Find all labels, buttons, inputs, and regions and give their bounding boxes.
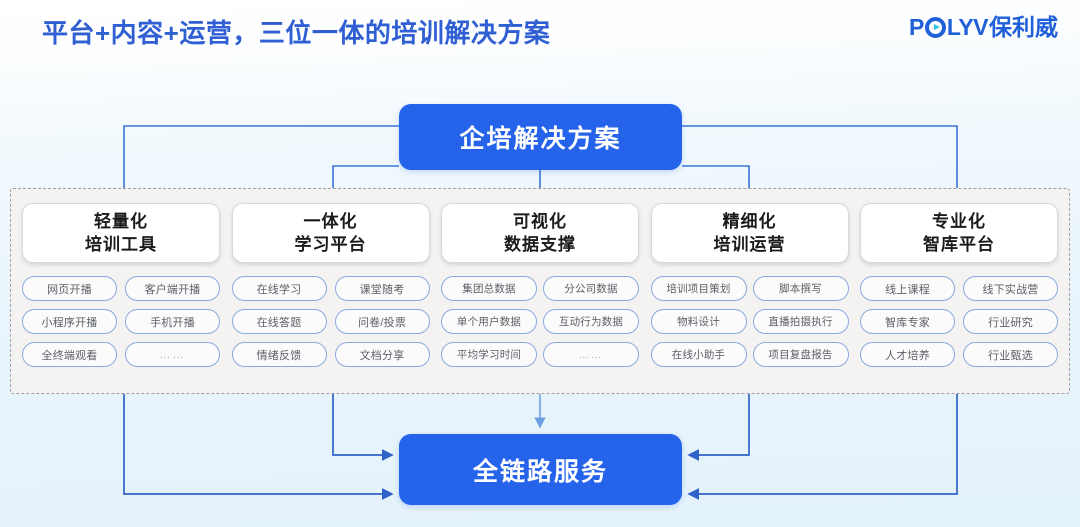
tag-item[interactable]: 问卷/投票: [335, 309, 430, 334]
pillar-title-line2: 培训运营: [714, 233, 786, 256]
pillar-tags-1: 网页开播 客户端开播 小程序开播 手机开播 全终端观看 ……: [22, 276, 220, 367]
pillar-header-1: 轻量化 培训工具: [22, 203, 220, 263]
pillar-title-line2: 学习平台: [295, 233, 367, 256]
pillar-header-2: 一体化 学习平台: [232, 203, 430, 263]
pillar-title-line2: 智库平台: [923, 233, 995, 256]
tag-item[interactable]: 项目复盘报告: [753, 342, 849, 367]
pillar-header-4: 精细化 培训运营: [651, 203, 849, 263]
tag-item[interactable]: 线上课程: [860, 276, 955, 301]
pillar-tags-5: 线上课程 线下实战营 智库专家 行业研究 人才培养 行业甄选: [860, 276, 1058, 367]
tag-item[interactable]: 直播拍摄执行: [753, 309, 849, 334]
tag-item[interactable]: 平均学习时间: [441, 342, 537, 367]
pillar-column-1[interactable]: 轻量化 培训工具 网页开播 客户端开播 小程序开播 手机开播 全终端观看 ……: [22, 203, 220, 381]
tag-item[interactable]: 集团总数据: [441, 276, 537, 301]
pillar-title-line1: 一体化: [304, 210, 358, 233]
pillar-title-line2: 培训工具: [85, 233, 157, 256]
tag-item[interactable]: 分公司数据: [543, 276, 639, 301]
pillar-column-3[interactable]: 可视化 数据支撑 集团总数据 分公司数据 单个用户数据 互动行为数据 平均学习时…: [441, 203, 639, 381]
pillar-header-3: 可视化 数据支撑: [441, 203, 639, 263]
tag-item[interactable]: 全终端观看: [22, 342, 117, 367]
tag-item[interactable]: 手机开播: [125, 309, 220, 334]
pillar-title-line2: 数据支撑: [504, 233, 576, 256]
pillar-tags-2: 在线学习 课堂随考 在线答题 问卷/投票 情绪反馈 文档分享: [232, 276, 430, 367]
tag-item[interactable]: 小程序开播: [22, 309, 117, 334]
top-solution-box[interactable]: 企培解决方案: [399, 104, 682, 170]
page-title: 平台+内容+运营，三位一体的培训解决方案: [42, 13, 550, 50]
tag-item[interactable]: 在线学习: [232, 276, 327, 301]
tag-item[interactable]: 物料设计: [651, 309, 747, 334]
pillar-title-line1: 轻量化: [94, 210, 148, 233]
tag-item[interactable]: 智库专家: [860, 309, 955, 334]
tag-item-more[interactable]: ……: [543, 342, 639, 367]
tag-item[interactable]: 脚本撰写: [753, 276, 849, 301]
brand-wordmark: P LYV: [909, 14, 988, 40]
tag-item[interactable]: 网页开播: [22, 276, 117, 301]
top-solution-label: 企培解决方案: [459, 119, 621, 155]
tag-item[interactable]: 单个用户数据: [441, 309, 537, 334]
tag-item[interactable]: 在线小助手: [651, 342, 747, 367]
pillar-tags-3: 集团总数据 分公司数据 单个用户数据 互动行为数据 平均学习时间 ……: [441, 276, 639, 367]
pillar-title-line1: 专业化: [932, 210, 986, 233]
brand-letter-p: P: [909, 14, 924, 40]
bottom-service-label: 全链路服务: [473, 452, 608, 488]
pillar-title-line1: 可视化: [513, 210, 567, 233]
tag-item[interactable]: 文档分享: [335, 342, 430, 367]
bottom-service-box[interactable]: 全链路服务: [399, 434, 682, 505]
brand-letters-lyv: LYV: [947, 14, 988, 40]
tag-item[interactable]: 课堂随考: [335, 276, 430, 301]
pillar-header-5: 专业化 智库平台: [860, 203, 1058, 263]
tag-item[interactable]: 在线答题: [232, 309, 327, 334]
tag-item[interactable]: 线下实战营: [963, 276, 1058, 301]
pillar-tags-4: 培训项目策划 脚本撰写 物料设计 直播拍摄执行 在线小助手 项目复盘报告: [651, 276, 849, 367]
tag-item[interactable]: 培训项目策划: [651, 276, 747, 301]
tag-item[interactable]: 互动行为数据: [543, 309, 639, 334]
pillar-column-4[interactable]: 精细化 培训运营 培训项目策划 脚本撰写 物料设计 直播拍摄执行 在线小助手 项…: [651, 203, 849, 381]
pillar-column-5[interactable]: 专业化 智库平台 线上课程 线下实战营 智库专家 行业研究 人才培养 行业甄选: [860, 203, 1058, 381]
play-circle-icon: [925, 17, 946, 38]
brand-name-cn: 保利威: [989, 14, 1058, 40]
pillars-container: 轻量化 培训工具 网页开播 客户端开播 小程序开播 手机开播 全终端观看 …… …: [10, 188, 1070, 394]
pillar-title-line1: 精细化: [723, 210, 777, 233]
slide-canvas: 平台+内容+运营，三位一体的培训解决方案 P LYV 保利威: [0, 0, 1080, 527]
pillar-column-2[interactable]: 一体化 学习平台 在线学习 课堂随考 在线答题 问卷/投票 情绪反馈 文档分享: [232, 203, 430, 381]
tag-item[interactable]: 客户端开播: [125, 276, 220, 301]
tag-item-more[interactable]: ……: [125, 342, 220, 367]
tag-item[interactable]: 人才培养: [860, 342, 955, 367]
tag-item[interactable]: 情绪反馈: [232, 342, 327, 367]
brand-logo: P LYV 保利威: [909, 14, 1058, 40]
tag-item[interactable]: 行业研究: [963, 309, 1058, 334]
tag-item[interactable]: 行业甄选: [963, 342, 1058, 367]
slide-header: 平台+内容+运营，三位一体的培训解决方案 P LYV 保利威: [0, 0, 1080, 58]
